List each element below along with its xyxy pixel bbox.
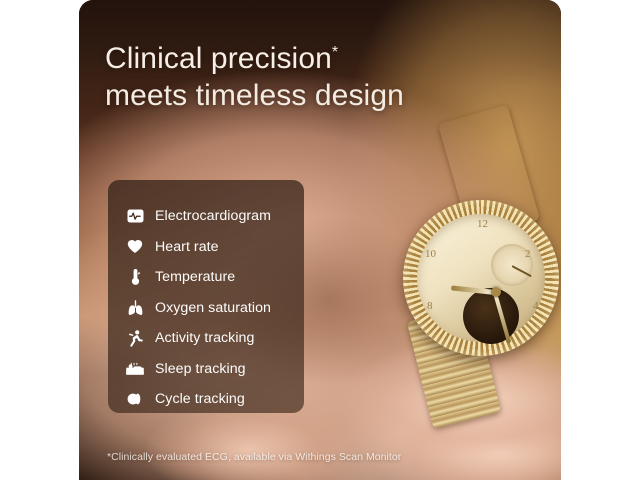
background-photo: 12 2 4 6 8 10 Clinical precision* meets … bbox=[79, 0, 561, 480]
feature-list-panel: Electrocardiogram Heart rate Temperature… bbox=[108, 180, 304, 413]
feature-item-oxygen-saturation: Oxygen saturation bbox=[126, 293, 304, 324]
watch-dial: 12 2 4 6 8 10 bbox=[417, 214, 545, 342]
headline-line-1: Clinical precision* bbox=[105, 40, 535, 77]
feature-label: Temperature bbox=[155, 269, 235, 285]
wristwatch: 12 2 4 6 8 10 bbox=[395, 186, 561, 376]
watch-center-pin bbox=[491, 287, 501, 297]
headline-asterisk: * bbox=[332, 44, 338, 61]
moon-icon bbox=[126, 391, 144, 408]
promo-image: 12 2 4 6 8 10 Clinical precision* meets … bbox=[0, 0, 640, 480]
feature-item-temperature: Temperature bbox=[126, 262, 304, 293]
feature-item-electrocardiogram: Electrocardiogram bbox=[126, 201, 304, 232]
watch-index: 8 bbox=[427, 300, 433, 312]
feature-label: Cycle tracking bbox=[155, 391, 245, 407]
feature-label: Sleep tracking bbox=[155, 361, 246, 377]
feature-item-cycle-tracking: Cycle tracking bbox=[126, 384, 304, 415]
heart-icon bbox=[126, 238, 144, 255]
watch-index: 4 bbox=[533, 300, 539, 312]
feature-item-heart-rate: Heart rate bbox=[126, 232, 304, 263]
feature-label: Oxygen saturation bbox=[155, 300, 271, 316]
feature-label: Electrocardiogram bbox=[155, 208, 271, 224]
watch-index: 2 bbox=[525, 248, 531, 260]
lungs-icon bbox=[126, 299, 144, 316]
watch-dial-aperture bbox=[463, 288, 519, 344]
headline-line-2: meets timeless design bbox=[105, 77, 535, 114]
ecg-icon bbox=[126, 208, 144, 225]
feature-item-activity-tracking: Activity tracking bbox=[126, 323, 304, 354]
feature-label: Heart rate bbox=[155, 239, 219, 255]
feature-label: Activity tracking bbox=[155, 330, 254, 346]
feature-item-sleep-tracking: Sleep tracking bbox=[126, 354, 304, 385]
watch-bezel: 12 2 4 6 8 10 bbox=[403, 200, 559, 356]
footnote: *Clinically evaluated ECG, available via… bbox=[107, 451, 537, 463]
watch-index: 12 bbox=[477, 218, 488, 230]
thermometer-icon bbox=[126, 269, 144, 286]
headline: Clinical precision* meets timeless desig… bbox=[105, 40, 535, 114]
watch-index: 10 bbox=[425, 248, 436, 260]
headline-line-1-text: Clinical precision bbox=[105, 42, 332, 75]
running-icon bbox=[126, 330, 144, 347]
bed-icon bbox=[126, 360, 144, 377]
